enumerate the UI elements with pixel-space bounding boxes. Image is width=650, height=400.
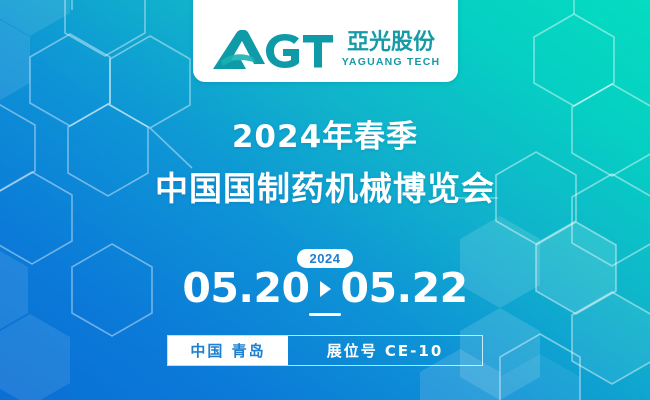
- headline-line-2: 中国国制药机械博览会: [0, 167, 650, 212]
- venue-booth-block: 展位号 CE-10: [288, 336, 482, 365]
- logo-card: 亞光股份 YAGUANG TECH: [193, 0, 458, 82]
- logo-lockup: 亞光股份 YAGUANG TECH: [211, 30, 441, 70]
- date-end: 05.22: [341, 268, 468, 309]
- year-badge-label: 2024: [310, 251, 341, 266]
- logo-english-name: YAGUANG TECH: [342, 57, 441, 68]
- logo-chinese-name: 亞光股份: [347, 32, 435, 54]
- right-triangle-arrow-icon: [320, 281, 331, 297]
- event-date-range: 05.20 05.22: [0, 268, 650, 309]
- venue-city-label: 中国 青岛: [190, 340, 265, 361]
- venue-city-block: 中国 青岛: [168, 336, 288, 365]
- agt-monogram-icon: [211, 30, 335, 70]
- date-start: 05.20: [182, 268, 309, 309]
- venue-booth-label: 展位号 CE-10: [327, 340, 444, 361]
- event-banner: 亞光股份 YAGUANG TECH 2024年春季 中国国制药机械博览会 202…: [0, 0, 650, 400]
- date-underline-divider: [309, 313, 341, 316]
- headline-block: 2024年春季 中国国制药机械博览会: [0, 118, 650, 211]
- venue-info-bar: 中国 青岛 展位号 CE-10: [167, 335, 483, 366]
- headline-line-1: 2024年春季: [0, 118, 650, 157]
- logo-wordmark: 亞光股份 YAGUANG TECH: [342, 32, 441, 68]
